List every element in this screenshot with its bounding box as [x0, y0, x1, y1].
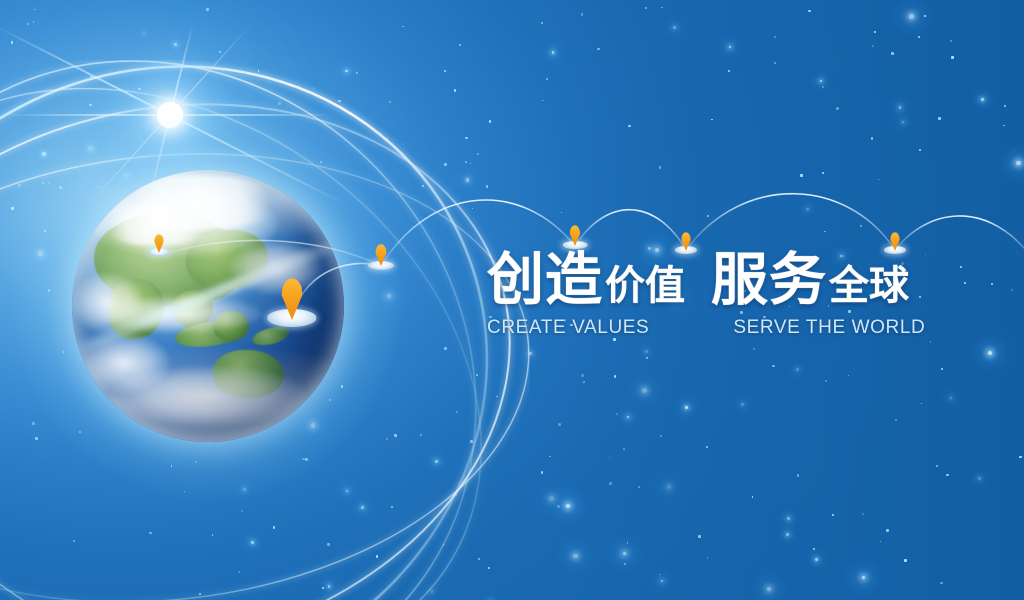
headline-block: 创造 价值 服务 全球 CREATE VALUES SERVE THE WORL… [487, 252, 957, 337]
subtitle-left: CREATE VALUES [487, 318, 649, 337]
title-left-primary: 创造 [487, 252, 603, 309]
subtitle-row: CREATE VALUES SERVE THE WORLD [487, 318, 957, 337]
subtitle-right: SERVE THE WORLD [733, 318, 925, 337]
title-right-primary: 服务 [711, 252, 827, 309]
pin-route-2 [563, 224, 588, 249]
pin-route-4 [884, 231, 906, 254]
pin-route-1 [368, 243, 394, 270]
title-right-secondary: 全球 [829, 266, 909, 306]
subtitle-spacer [649, 318, 733, 337]
title-row: 创造 价值 服务 全球 [487, 252, 957, 309]
pin-route-3 [675, 231, 697, 254]
pin-globe-asia [148, 233, 170, 256]
title-left-secondary: 价值 [605, 266, 685, 306]
pin-globe-indonesia [267, 276, 316, 326]
banner-stage: 创造 价值 服务 全球 CREATE VALUES SERVE THE WORL… [0, 0, 1024, 600]
